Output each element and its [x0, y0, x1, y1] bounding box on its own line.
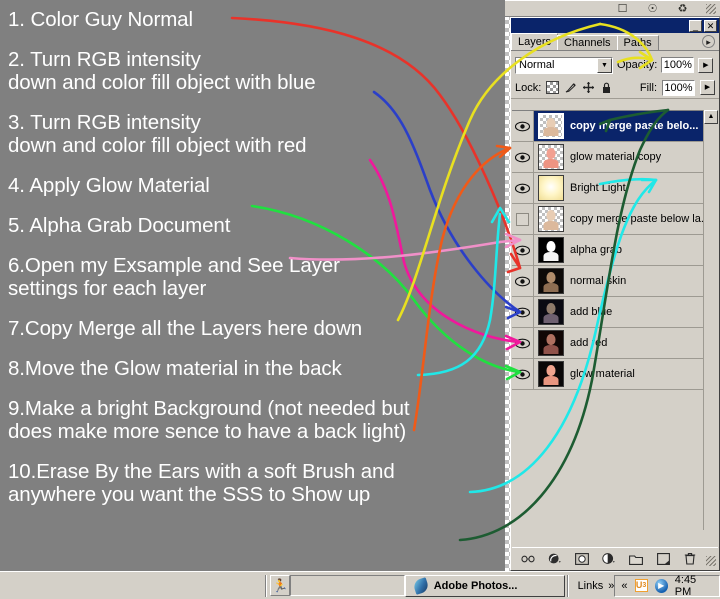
blend-mode-value: Normal — [519, 59, 554, 71]
instruction-list: 1. Color Guy Normal 2. Turn RGB intensit… — [0, 0, 505, 571]
trash-icon[interactable]: ♻ — [676, 3, 689, 15]
layer-visibility-toggle[interactable] — [512, 142, 534, 172]
eye-icon[interactable] — [515, 183, 530, 194]
chevron-down-icon[interactable]: ▼ — [597, 58, 612, 73]
layer-name: add red — [570, 337, 607, 349]
eye-hidden-icon[interactable] — [516, 213, 529, 226]
fill-input[interactable]: 100% — [662, 80, 695, 96]
system-tray: « U3 ▶ 4:45 PM — [614, 575, 720, 597]
layer-thumbnail[interactable] — [538, 330, 564, 356]
photoshop-icon — [412, 577, 430, 595]
instruction-step: 6.Open my Exsample and See Layer setting… — [8, 254, 505, 300]
layer-style-icon[interactable] — [548, 552, 562, 566]
minimize-button[interactable]: _ — [689, 20, 702, 32]
blend-mode-row: Normal ▼ Opacity: 100% ▶ — [511, 51, 719, 76]
thumb-body — [544, 283, 559, 292]
layer-name: normal skin — [570, 275, 626, 287]
opacity-slider-arrow-icon[interactable]: ▶ — [698, 58, 713, 73]
eye-icon[interactable] — [515, 338, 530, 349]
layer-thumbnail[interactable] — [538, 268, 564, 294]
tray-expand-icon[interactable]: « — [621, 580, 627, 592]
taskbar-separator — [265, 575, 268, 597]
layer-mask-icon[interactable] — [575, 552, 589, 566]
fill-slider-arrow-icon[interactable]: ▶ — [700, 80, 715, 95]
taskbar-button-label: Adobe Photos... — [434, 580, 518, 592]
instruction-step: 4. Apply Glow Material — [8, 174, 505, 197]
taskbar-separator — [567, 575, 570, 597]
instruction-step: 9.Make a bright Background (not needed b… — [8, 397, 505, 443]
eye-icon[interactable] — [515, 307, 530, 318]
link-layers-icon[interactable] — [521, 552, 535, 566]
windows-taskbar: 🏃 Adobe Photos... Links » « U3 ▶ 4:45 PM — [0, 571, 720, 599]
layer-name: glow material copy — [570, 151, 661, 163]
thumb-body — [544, 314, 559, 323]
lock-position-icon[interactable] — [582, 81, 595, 94]
layers-bottom-toolbar — [512, 547, 718, 569]
layer-row[interactable]: add red — [512, 328, 718, 359]
palette-title-bar[interactable]: _ ✕ — [511, 18, 719, 33]
thumb-body — [544, 221, 559, 230]
palette-tab-row: Layers Channels Paths ▸ — [511, 33, 719, 51]
thumb-head — [547, 365, 556, 376]
camera-icon[interactable]: ☉ — [646, 3, 659, 15]
layer-list[interactable]: copy merge paste belo... glow material c… — [512, 110, 718, 530]
thumb-body — [544, 376, 559, 385]
thumb-body — [544, 159, 559, 168]
lock-image-icon[interactable] — [564, 81, 577, 94]
layer-visibility-toggle[interactable] — [512, 204, 534, 234]
adjustment-layer-icon[interactable] — [602, 552, 616, 566]
delete-layer-icon[interactable] — [683, 552, 697, 566]
instruction-step: 7.Copy Merge all the Layers here down — [8, 317, 505, 340]
instruction-step: 2. Turn RGB intensity down and color fil… — [8, 48, 505, 94]
new-layer-icon[interactable] — [656, 552, 670, 566]
layer-row[interactable]: glow material copy — [512, 142, 718, 173]
instruction-step: 5. Alpha Grab Document — [8, 214, 505, 237]
thumb-head — [547, 210, 556, 221]
layer-row[interactable]: Bright Light — [512, 173, 718, 204]
layers-scrollbar[interactable]: ▲ — [703, 110, 718, 530]
media-play-icon[interactable]: ▶ — [655, 579, 668, 593]
layer-name: Bright Light — [570, 182, 626, 194]
page-icon[interactable]: ☐ — [616, 3, 629, 15]
layer-row[interactable]: copy merge paste belo... — [512, 111, 718, 142]
layer-visibility-toggle[interactable] — [512, 266, 534, 296]
eye-icon[interactable] — [515, 152, 530, 163]
taskbar-button-photoshop[interactable]: Adobe Photos... — [405, 575, 565, 597]
layer-name: alpha grab — [570, 244, 622, 256]
layer-thumbnail[interactable] — [538, 361, 564, 387]
thumb-body — [544, 345, 559, 354]
layers-palette-window: _ ✕ Layers Channels Paths ▸ Normal ▼ Opa… — [510, 17, 720, 571]
eye-icon[interactable] — [515, 369, 530, 380]
photoshop-layers-palette: ☐ ☉ ♻ _ ✕ Layers Channels Paths ▸ Normal… — [505, 0, 720, 571]
lock-row: Lock: Fill: 100% ▶ — [511, 76, 719, 99]
tab-paths[interactable]: Paths — [617, 35, 659, 50]
opacity-input[interactable]: 100% — [661, 57, 694, 73]
resize-grip[interactable] — [706, 4, 716, 14]
layer-thumbnail[interactable] — [538, 299, 564, 325]
layer-thumbnail[interactable] — [538, 237, 564, 263]
layer-row[interactable]: alpha grab — [512, 235, 718, 266]
layer-visibility-toggle[interactable] — [512, 328, 534, 358]
eye-icon[interactable] — [515, 121, 530, 132]
upper-palette-toolbar: ☐ ☉ ♻ — [505, 0, 720, 17]
lock-transparency-icon[interactable] — [546, 81, 559, 94]
layer-visibility-toggle[interactable] — [512, 111, 534, 141]
thumb-body — [544, 127, 559, 136]
runner-icon[interactable]: 🏃 — [270, 575, 290, 596]
layer-thumbnail[interactable] — [538, 206, 564, 232]
layer-name: copy merge paste belo... — [570, 120, 698, 132]
lock-label: Lock: — [515, 82, 541, 94]
quicklaunch-empty-area[interactable] — [290, 575, 405, 596]
layer-name: copy merge paste below la... — [570, 213, 710, 225]
layer-name: glow material — [570, 368, 635, 380]
layer-visibility-toggle[interactable] — [512, 235, 534, 265]
close-button[interactable]: ✕ — [704, 20, 717, 32]
palette-resize-grip[interactable] — [706, 556, 716, 566]
instruction-step: 10.Erase By the Ears with a soft Brush a… — [8, 460, 505, 506]
blend-mode-select[interactable]: Normal ▼ — [515, 57, 613, 74]
layer-row[interactable]: copy merge paste below la... — [512, 204, 718, 235]
taskbar-left-spacer — [0, 572, 263, 599]
layer-row[interactable]: add blue — [512, 297, 718, 328]
layer-name: add blue — [570, 306, 612, 318]
scroll-up-button[interactable]: ▲ — [704, 110, 718, 124]
thumb-head — [547, 148, 556, 159]
layer-thumbnail[interactable] — [538, 175, 564, 201]
layer-visibility-toggle[interactable] — [512, 297, 534, 327]
layer-row[interactable]: normal skin — [512, 266, 718, 297]
links-label: Links — [578, 580, 604, 592]
thumb-head — [547, 303, 556, 314]
layer-row[interactable]: glow material — [512, 359, 718, 390]
u3-icon[interactable]: U3 — [635, 579, 648, 592]
palette-menu-icon[interactable]: ▸ — [702, 35, 715, 48]
links-toolbar[interactable]: Links » — [572, 580, 615, 592]
layer-visibility-toggle[interactable] — [512, 359, 534, 389]
thumb-head — [547, 272, 556, 283]
lock-all-icon[interactable] — [600, 81, 613, 94]
eye-icon[interactable] — [515, 276, 530, 287]
instruction-step: 1. Color Guy Normal — [8, 8, 505, 31]
new-group-icon[interactable] — [629, 552, 643, 566]
instruction-step: 8.Move the Glow material in the back — [8, 357, 505, 380]
fill-label: Fill: — [640, 82, 657, 94]
instruction-step: 3. Turn RGB intensity down and color fil… — [8, 111, 505, 157]
layer-thumbnail[interactable] — [538, 144, 564, 170]
layer-thumbnail[interactable] — [538, 113, 564, 139]
tab-channels[interactable]: Channels — [557, 35, 617, 50]
tab-layers[interactable]: Layers — [511, 33, 558, 50]
thumb-head — [547, 241, 556, 252]
eye-icon[interactable] — [515, 245, 530, 256]
taskbar-clock[interactable]: 4:45 PM — [675, 574, 713, 598]
thumb-body — [544, 252, 559, 261]
opacity-label: Opacity: — [617, 59, 657, 71]
layer-visibility-toggle[interactable] — [512, 173, 534, 203]
thumb-head — [547, 334, 556, 345]
